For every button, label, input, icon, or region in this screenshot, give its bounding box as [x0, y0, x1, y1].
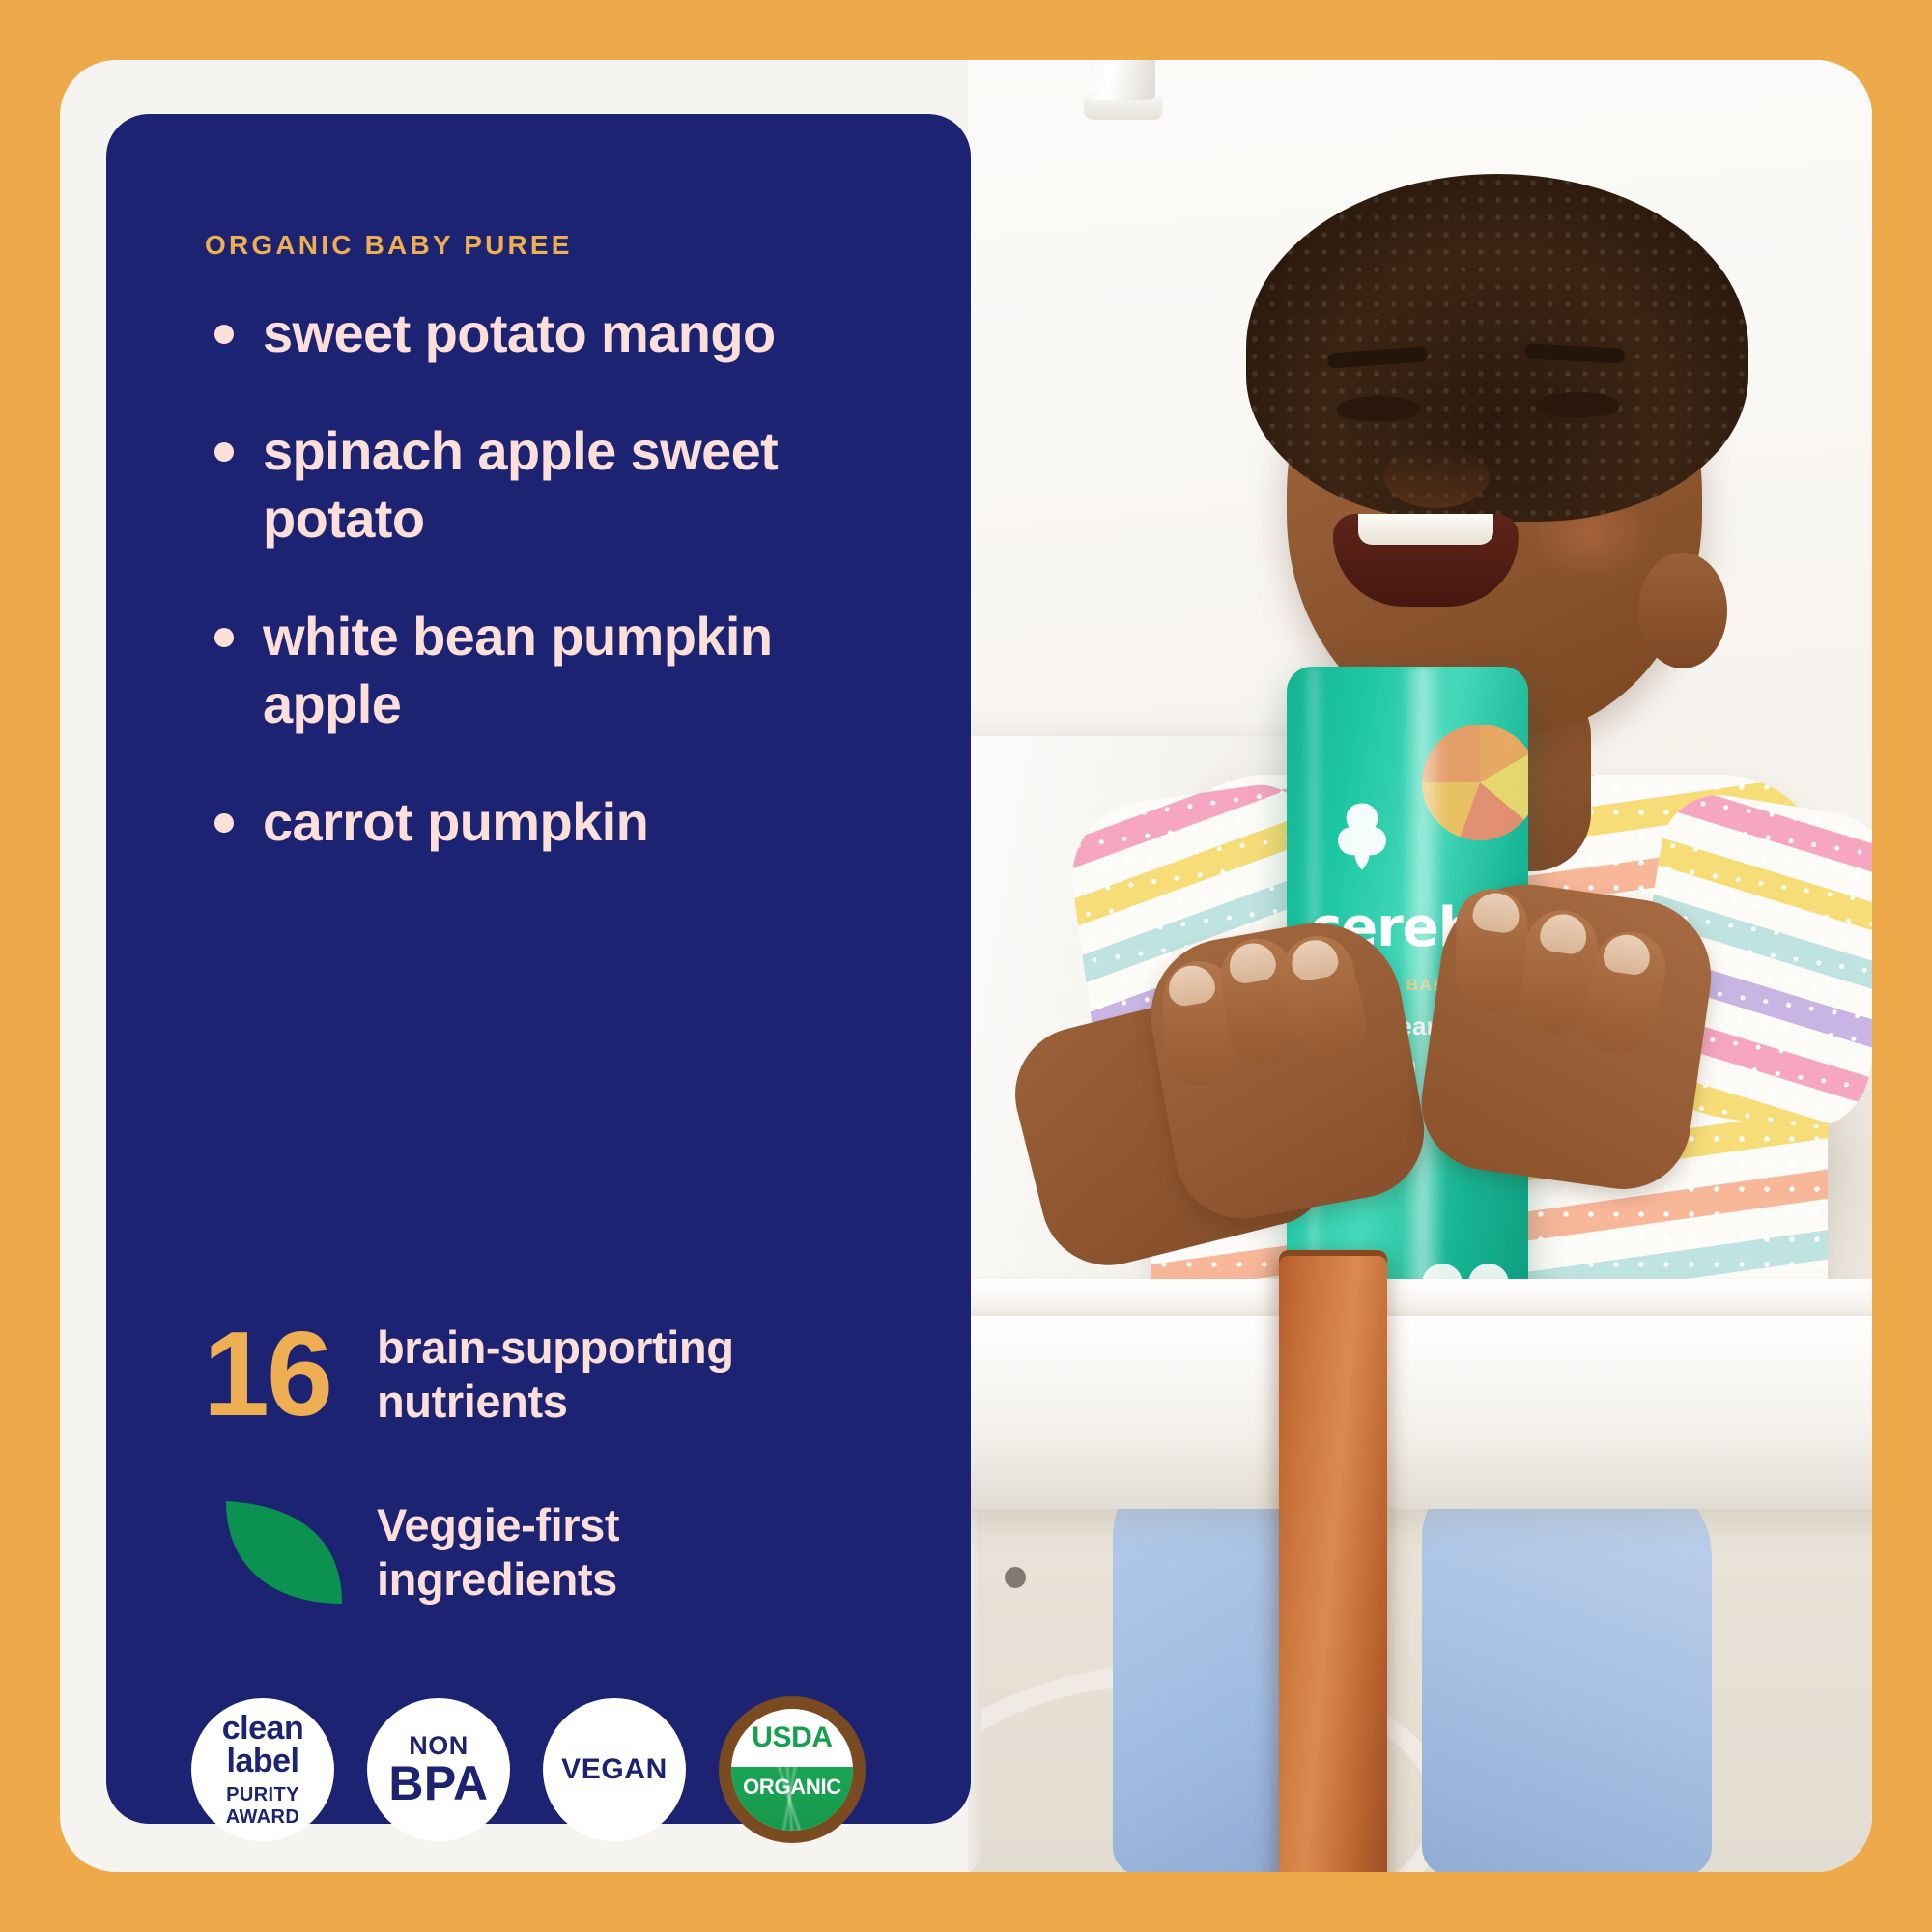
stat-veggie-first: Veggie-first ingredients	[203, 1495, 937, 1609]
bullet-icon	[214, 628, 234, 647]
nutrient-label: brain-supporting nutrients	[377, 1321, 734, 1429]
usda-rays-graphic	[731, 1767, 853, 1831]
info-panel: ORGANIC BABY PUREE sweet potato mango sp…	[106, 114, 971, 1824]
badge-vegan: VEGAN	[543, 1698, 686, 1841]
panel-eyebrow: ORGANIC BABY PUREE	[205, 230, 573, 261]
non-bpa-line2: BPA	[388, 1759, 488, 1807]
clean-label-line1: clean	[222, 1712, 303, 1745]
flavor-label: carrot pumpkin	[263, 788, 648, 856]
certification-badges: clean label PURITY AWARD NON BPA VEGAN U…	[191, 1696, 866, 1843]
clean-label-line4: AWARD	[226, 1806, 299, 1828]
baby-hair-texture	[1246, 174, 1748, 522]
bullet-icon	[214, 813, 234, 833]
baby-hand-right	[1412, 873, 1720, 1198]
list-item: white bean pumpkin apple	[201, 603, 916, 738]
leaf-icon	[222, 1495, 346, 1609]
product-card: cerebelly ORGANIC BABY PUREE white bean …	[60, 60, 1872, 1872]
non-bpa-line1: NON	[409, 1732, 469, 1759]
baby-teeth	[1358, 514, 1493, 545]
flavor-label: white bean pumpkin apple	[263, 603, 900, 738]
baby-ear	[1638, 553, 1727, 668]
badge-non-bpa: NON BPA	[367, 1698, 510, 1841]
baby-eye-left	[1337, 396, 1420, 421]
veggie-label: Veggie-first ingredients	[377, 1498, 619, 1606]
nutrient-count: 16	[203, 1318, 377, 1432]
flavor-list: sweet potato mango spinach apple sweet p…	[201, 299, 916, 906]
badge-usda-organic: USDA ORGANIC	[719, 1696, 866, 1843]
list-item: spinach apple sweet potato	[201, 417, 916, 553]
stat-nutrients: 16 brain-supporting nutrients	[203, 1318, 937, 1432]
cerebelly-leaf-logo-icon	[1316, 790, 1408, 883]
bullet-icon	[214, 442, 234, 462]
lifestyle-photo: cerebelly ORGANIC BABY PUREE white bean …	[968, 60, 1872, 1872]
baby-eye-right	[1536, 392, 1619, 417]
high-chair-screw	[1005, 1567, 1026, 1588]
badge-clean-label: clean label PURITY AWARD	[191, 1698, 334, 1841]
clean-label-line3: PURITY	[226, 1784, 299, 1805]
promo-canvas: cerebelly ORGANIC BABY PUREE white bean …	[0, 0, 1932, 1932]
flavor-label: spinach apple sweet potato	[263, 417, 900, 553]
baby-nose	[1383, 444, 1490, 508]
baby-leg-right	[1422, 1470, 1712, 1872]
high-chair-seat	[968, 1316, 1872, 1509]
flavor-label: sweet potato mango	[263, 299, 776, 367]
vegan-label: VEGAN	[561, 1753, 668, 1786]
clean-label-line2: label	[227, 1745, 299, 1777]
usda-text: USDA	[731, 1709, 853, 1767]
list-item: sweet potato mango	[201, 299, 916, 367]
bullet-icon	[214, 325, 234, 344]
pouch-cap	[1092, 60, 1155, 100]
high-chair-strap	[1279, 1256, 1387, 1872]
list-item: carrot pumpkin	[201, 788, 916, 856]
